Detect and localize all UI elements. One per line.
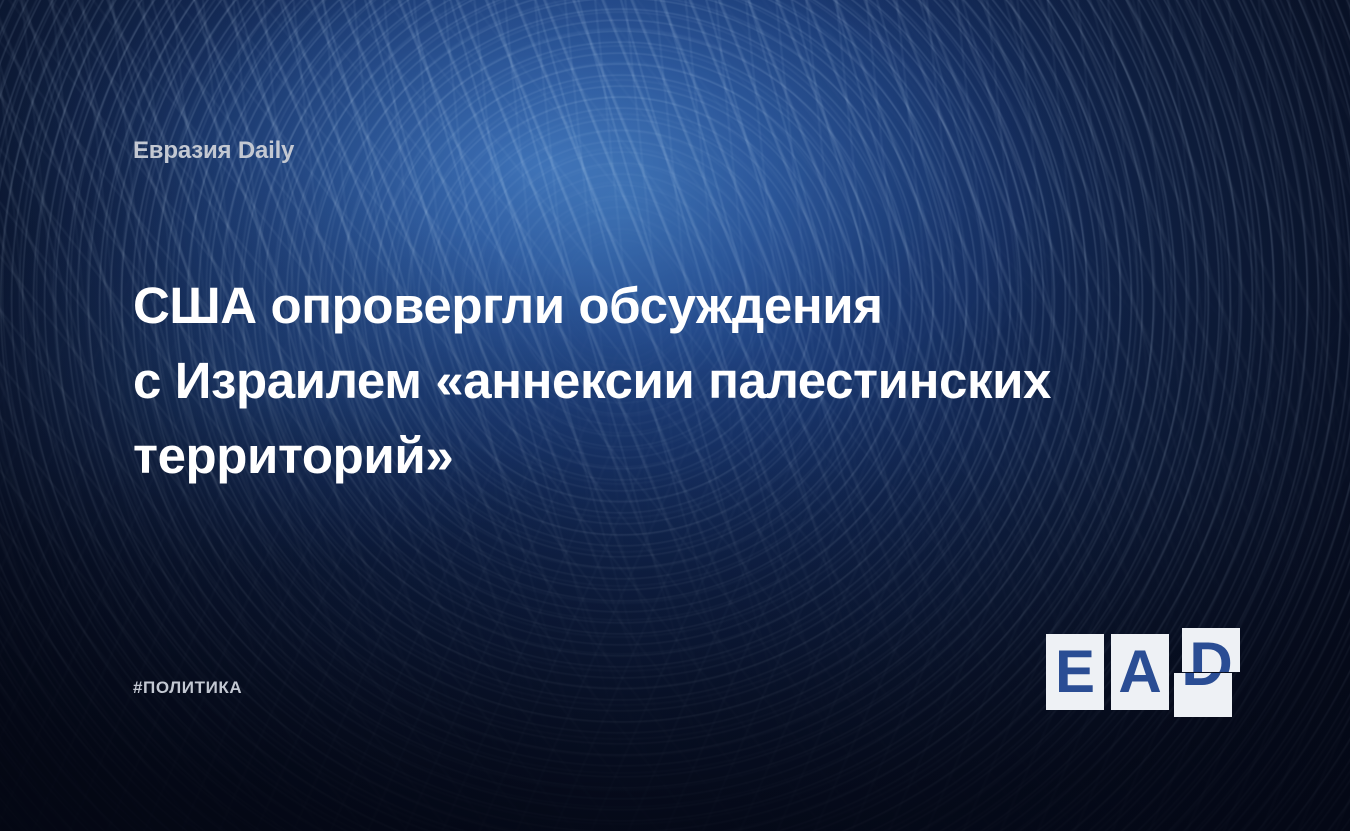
logo-tile-d-bottom: D (1174, 673, 1232, 717)
brand-wordmark: Евразия Daily (133, 137, 294, 165)
headline-line-1: США опровергли обсуждения (133, 268, 1183, 343)
rubric-tag-politics[interactable]: #ПОЛИТИКА (133, 678, 242, 698)
logo-tile-d-top: D (1182, 628, 1240, 672)
logo-letter-d-lower: D (1174, 673, 1232, 695)
ead-logo: E A D D (1046, 628, 1226, 716)
logo-tile-a: A (1111, 634, 1169, 710)
card-content: Евразия Daily США опровергли обсуждения … (0, 0, 1350, 831)
headline-line-3: территорий» (133, 418, 1183, 493)
headline: США опровергли обсуждения с Израилем «ан… (133, 268, 1183, 493)
news-card: Евразия Daily США опровергли обсуждения … (0, 0, 1350, 831)
headline-line-2: с Израилем «аннексии палестинских (133, 343, 1183, 418)
logo-letter-d-upper: D (1182, 634, 1240, 672)
logo-tile-e: E (1046, 634, 1104, 710)
